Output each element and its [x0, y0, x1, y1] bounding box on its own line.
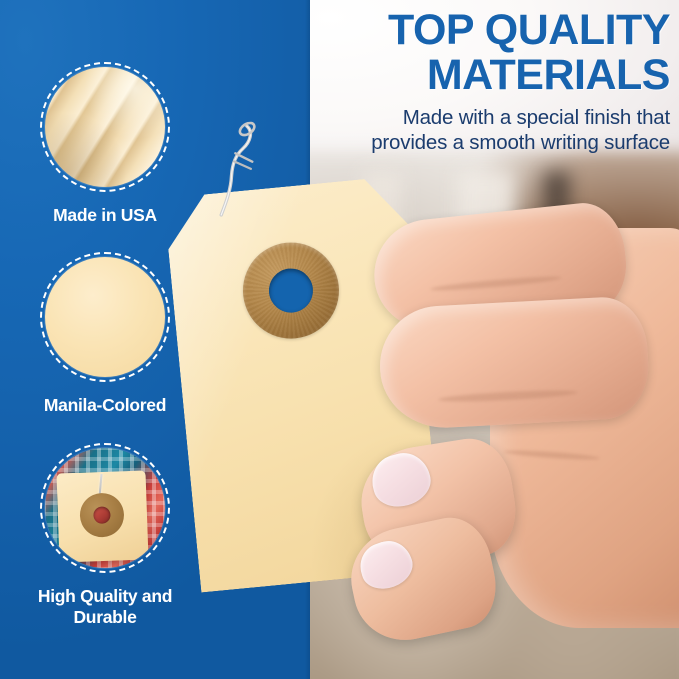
- subtitle-line-1: Made with a special finish that: [403, 106, 670, 129]
- feature-2-circle: [40, 252, 170, 382]
- subtitle-line-2: provides a smooth writing surface: [316, 130, 670, 155]
- feature-3-label-line-2: Durable: [73, 607, 136, 627]
- feature-3-circle: [40, 443, 170, 573]
- hand-holding-tag: [386, 206, 679, 679]
- feature-3-label-line-1: High Quality and: [38, 586, 172, 606]
- headline-line-1: TOP QUALITY: [388, 6, 670, 54]
- page-subtitle: Made with a special finish that provides…: [316, 105, 670, 155]
- feature-1-circle: [40, 62, 170, 192]
- dashed-ring-icon: [40, 252, 170, 382]
- feature-item-high-quality-durable: High Quality and Durable: [10, 443, 200, 628]
- dashed-ring-icon: [40, 62, 170, 192]
- infographic-canvas: TOP QUALITY MATERIALS Made with a specia…: [0, 0, 679, 679]
- dashed-ring-icon: [40, 443, 170, 573]
- feature-2-label: Manila-Colored: [10, 395, 200, 416]
- headline-block: TOP QUALITY MATERIALS Made with a specia…: [316, 8, 676, 168]
- headline-line-2: MATERIALS: [316, 53, 670, 98]
- page-title: TOP QUALITY MATERIALS: [316, 8, 670, 98]
- middle-finger: [377, 295, 651, 431]
- feature-3-label: High Quality and Durable: [10, 586, 200, 628]
